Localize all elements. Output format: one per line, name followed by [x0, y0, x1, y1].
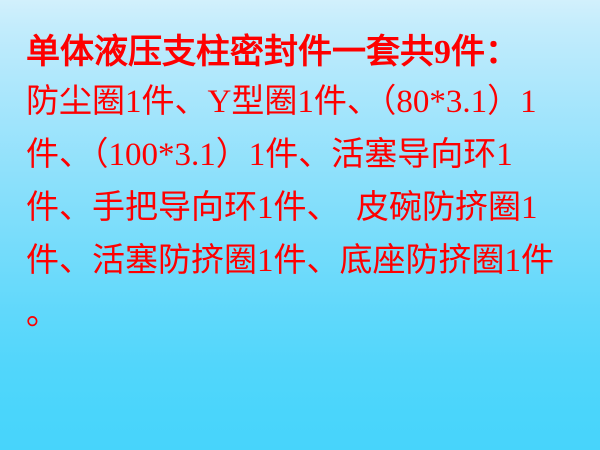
slide-body-line-5: 。: [26, 288, 574, 341]
slide-body-line-4: 件、活塞防挤圈1件、底座防挤圈1件: [26, 235, 574, 288]
slide-body-line-1: 防尘圈1件、Y型圈1件、（80*3.1）1: [26, 76, 574, 129]
slide-text-block: 单体液压支柱密封件一套共9件： 防尘圈1件、Y型圈1件、（80*3.1）1 件、…: [26, 30, 574, 341]
slide-canvas: 单体液压支柱密封件一套共9件： 防尘圈1件、Y型圈1件、（80*3.1）1 件、…: [0, 0, 600, 450]
slide-body-line-2: 件、（100*3.1）1件、活塞导向环1: [26, 129, 574, 182]
slide-body-line-3: 件、手把导向环1件、 皮碗防挤圈1: [26, 182, 574, 235]
slide-title: 单体液压支柱密封件一套共9件：: [26, 30, 574, 76]
